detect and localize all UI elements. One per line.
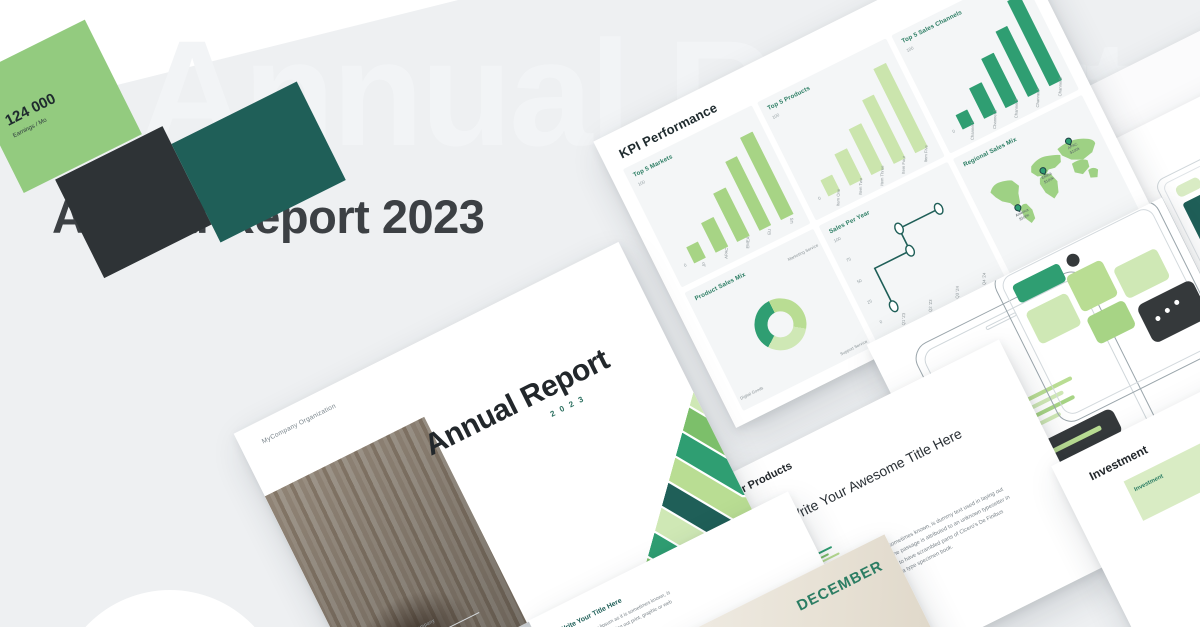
cover-brand: MyCompany Organization [261, 403, 337, 446]
x-tick: Q4 'Z4 [981, 273, 986, 286]
y-tick: 0 [813, 195, 822, 203]
bar-label: Channel 2 [992, 110, 997, 129]
bar [686, 242, 706, 264]
bar-label: APAC [723, 248, 728, 259]
y-tick: 25 [864, 298, 873, 306]
y-tick: 100 [637, 179, 646, 187]
y-tick: 0 [874, 319, 883, 327]
background-circle [55, 590, 285, 627]
bar-label: Item Three [879, 165, 885, 185]
bar-label: EU [767, 229, 772, 235]
y-tick: 100 [833, 236, 842, 244]
y-tick: 100 [906, 45, 915, 53]
x-tick: Q3 'Z4 [954, 286, 959, 299]
donut-chart [746, 289, 816, 359]
bar-label: Channel 3 [1014, 99, 1019, 118]
y-tick: 100 [771, 112, 780, 120]
bar-label: Item Five [923, 145, 928, 162]
y-tick: 0 [679, 262, 688, 270]
bar-label: US [789, 218, 794, 224]
y-tick: 75 [843, 257, 852, 265]
products-title: Write Your Awesome Title Here [785, 422, 972, 527]
bar-label: Item One [836, 189, 841, 206]
chart-product-mix [698, 247, 863, 402]
y-tick: 0 [947, 129, 956, 137]
bar-label: Channel 5 [1057, 77, 1062, 96]
cover-photo [265, 417, 527, 627]
x-tick: Q2 'Z3 [928, 299, 933, 312]
y-tick: 50 [854, 277, 863, 285]
bar-label: Item Two [858, 178, 863, 195]
bar-label: Channel 1 [970, 121, 975, 140]
bar-label: EMEA [745, 236, 750, 248]
bar-label: Item Four [901, 156, 906, 174]
cover-title: Annual Report [419, 343, 614, 463]
bar-label: JP [702, 262, 707, 267]
preview-canvas: Annual Report Annual Report 2023 Our Pro… [0, 0, 1200, 627]
bar-label: Channel 4 [1035, 88, 1040, 107]
x-tick: Q1 'Z3 [901, 313, 906, 326]
